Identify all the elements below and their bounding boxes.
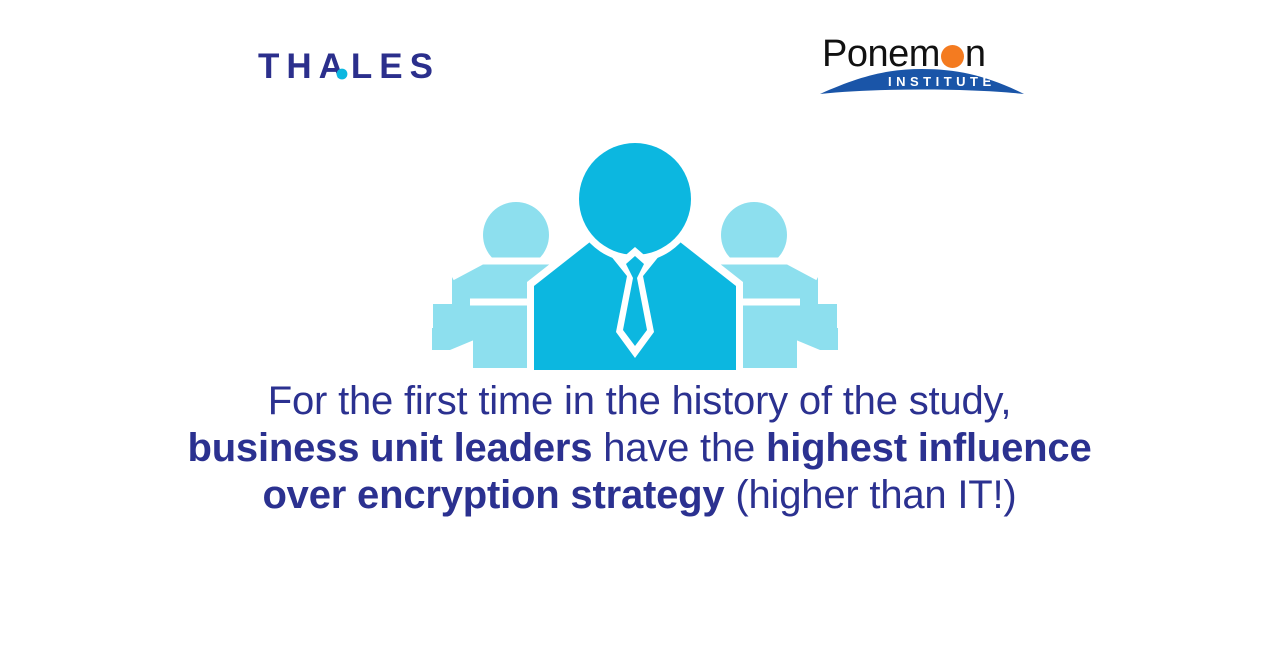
ponemon-wordmark-mid: onem xyxy=(847,33,940,75)
left-person-laptop-screen xyxy=(473,306,535,368)
slide-canvas: THALES Ponemn INSTITUTE xyxy=(0,0,1279,670)
headline-emphasis-over-encryption-strategy: over encryption strategy xyxy=(262,473,724,517)
headline-line-3: over encryption strategy (higher than IT… xyxy=(0,472,1279,519)
right-person-laptop-wedge xyxy=(796,328,838,350)
ponemon-wordmark-post: n xyxy=(965,33,986,75)
headline-line-2-connector: have the xyxy=(592,426,766,470)
ponemon-wordmark-pre: P xyxy=(822,33,847,75)
ponemon-institute-logo: Ponemn INSTITUTE xyxy=(818,36,1026,98)
headline-line-3-parenthetical: (higher than IT!) xyxy=(724,473,1016,517)
thales-a-dot-icon xyxy=(334,66,350,82)
thales-logo: THALES xyxy=(258,44,478,90)
headline-line-1-text: For the first time in the history of the… xyxy=(268,379,1012,423)
ponemon-subtitle: INSTITUTE xyxy=(888,74,996,89)
headline-emphasis-business-unit-leaders: business unit leaders xyxy=(187,426,592,470)
headline-text: For the first time in the history of the… xyxy=(0,378,1279,519)
thales-wordmark: THALES xyxy=(258,44,478,90)
headline-emphasis-highest-influence: highest influence xyxy=(766,426,1092,470)
headline-line-1: For the first time in the history of the… xyxy=(0,378,1279,425)
business-people-group-icon xyxy=(430,136,840,370)
right-person-laptop-screen xyxy=(735,306,797,368)
ponemon-orange-circle-icon xyxy=(941,45,964,68)
people-illustration xyxy=(430,136,840,370)
center-person-head xyxy=(579,143,691,255)
headline-line-2: business unit leaders have the highest i… xyxy=(0,425,1279,472)
left-person-laptop-wedge xyxy=(432,328,474,350)
